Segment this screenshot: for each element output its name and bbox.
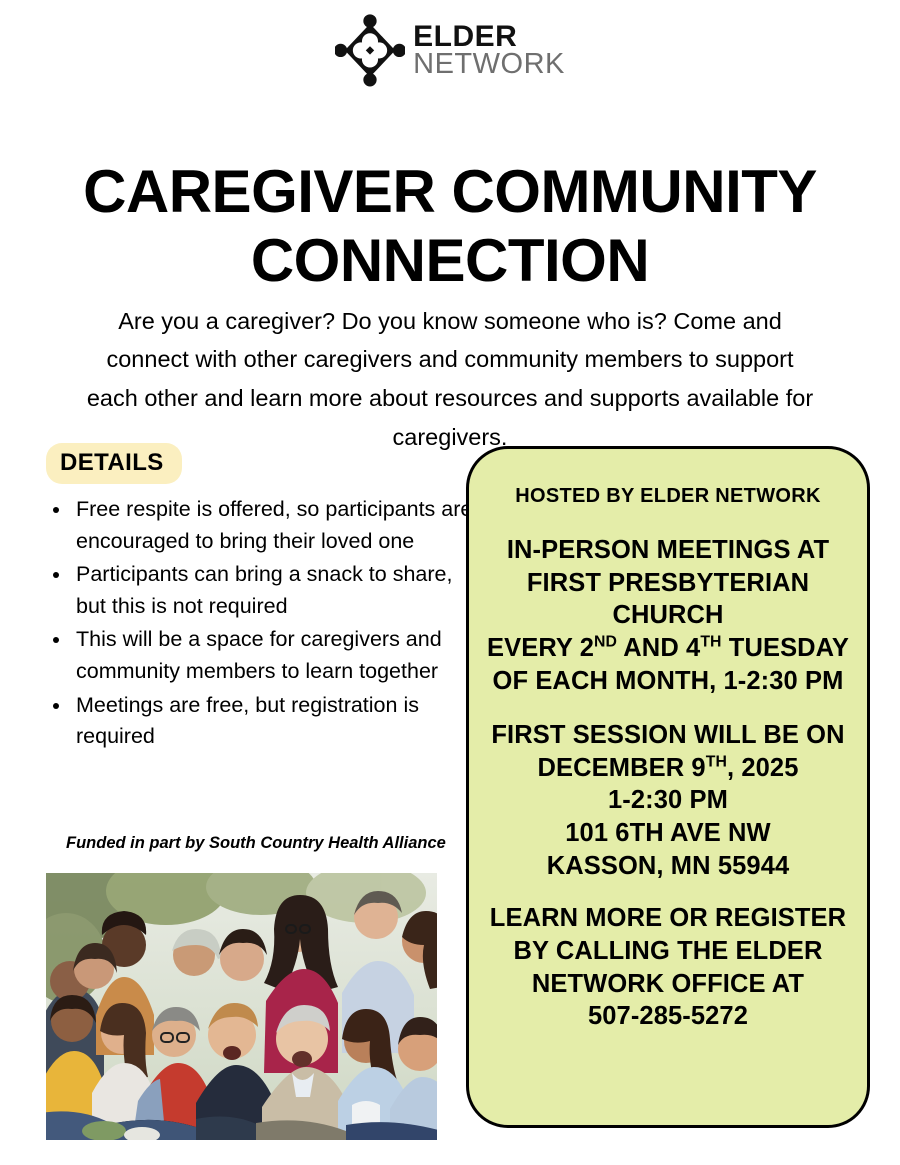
list-item: Participants can bring a snack to share,… xyxy=(72,559,482,622)
details-heading-badge: DETAILS xyxy=(46,443,182,484)
list-item: Meetings are free, but registration is r… xyxy=(72,690,482,753)
logo-word-network: NETWORK xyxy=(413,50,565,78)
logo-wordmark: ELDER NETWORK xyxy=(413,22,565,78)
meeting-line-1: IN-PERSON MEETINGS AT xyxy=(487,534,849,567)
first-session-time: 1-2:30 PM xyxy=(487,784,849,817)
first-session-ordinal: TH xyxy=(706,753,727,770)
first-session-block: FIRST SESSION WILL BE ON DECEMBER 9TH, 2… xyxy=(487,719,849,882)
address-line-2: KASSON, MN 55944 xyxy=(487,850,849,883)
register-line-3: NETWORK OFFICE AT xyxy=(487,968,849,1001)
schedule-line-2: OF EACH MONTH, 1-2:30 PM xyxy=(487,665,849,698)
group-photo xyxy=(46,873,437,1140)
page-title: CAREGIVER COMMUNITY CONNECTION xyxy=(50,158,850,295)
schedule-suffix: TUESDAY xyxy=(722,634,849,662)
meeting-line-2: FIRST PRESBYTERIAN xyxy=(487,567,849,600)
list-item: This will be a space for caregivers and … xyxy=(72,624,482,687)
funding-note: Funded in part by South Country Health A… xyxy=(66,834,446,853)
phone-number[interactable]: 507-285-5272 xyxy=(487,1000,849,1033)
list-item: Free respite is offered, so participants… xyxy=(72,494,482,557)
spacer xyxy=(487,882,849,902)
first-session-date: DECEMBER 9TH, 2025 xyxy=(487,752,849,785)
first-session-line-1: FIRST SESSION WILL BE ON xyxy=(487,719,849,752)
address-line-1: 101 6TH AVE NW xyxy=(487,817,849,850)
register-block: LEARN MORE OR REGISTER BY CALLING THE EL… xyxy=(487,902,849,1033)
brand-logo: ELDER NETWORK xyxy=(0,14,900,86)
spacer xyxy=(487,697,849,719)
meeting-line-3: CHURCH xyxy=(487,599,849,632)
register-line-1: LEARN MORE OR REGISTER xyxy=(487,902,849,935)
schedule-line-1: EVERY 2ND AND 4TH TUESDAY xyxy=(487,632,849,665)
schedule-ordinal-1: ND xyxy=(594,633,617,650)
logo-inner: ELDER NETWORK xyxy=(335,14,565,86)
meeting-location-block: IN-PERSON MEETINGS AT FIRST PRESBYTERIAN… xyxy=(487,534,849,697)
spacer xyxy=(487,508,849,534)
event-info-box: HOSTED BY ELDER NETWORK IN-PERSON MEETIN… xyxy=(466,446,870,1128)
intro-paragraph: Are you a caregiver? Do you know someone… xyxy=(85,302,815,457)
schedule-prefix: EVERY 2 xyxy=(487,634,594,662)
schedule-mid: AND 4 xyxy=(617,634,700,662)
first-session-month-day: DECEMBER 9 xyxy=(538,754,706,782)
first-session-year: , 2025 xyxy=(727,754,799,782)
schedule-ordinal-2: TH xyxy=(700,633,721,650)
register-line-2: BY CALLING THE ELDER xyxy=(487,935,849,968)
details-list: Free respite is offered, so participants… xyxy=(44,494,482,755)
elder-network-quatrefoil-icon xyxy=(335,14,405,86)
hosted-by-line: HOSTED BY ELDER NETWORK xyxy=(487,485,849,508)
logo-word-elder: ELDER xyxy=(413,22,565,51)
